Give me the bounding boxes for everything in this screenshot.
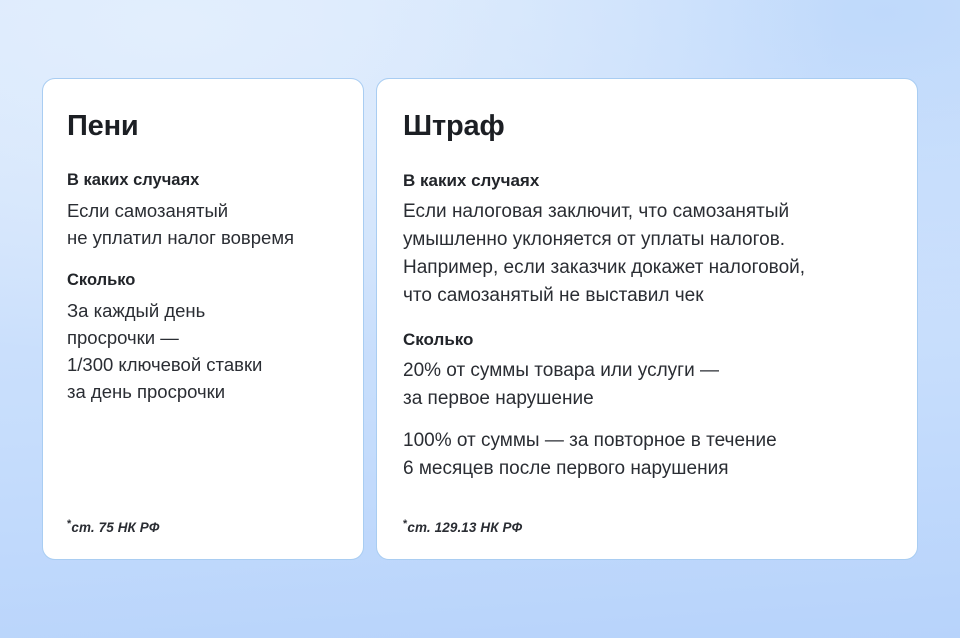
cards-container: Пени В каких случаях Если самозанятыйне … <box>42 78 918 560</box>
card-penalty-spacer <box>67 423 339 515</box>
infographic-canvas: Пени В каких случаях Если самозанятыйне … <box>0 0 960 638</box>
card-penalty-heading-cases: В каких случаях <box>67 169 339 191</box>
card-fine-heading-amount: Сколько <box>403 328 891 351</box>
card-fine-section-amount: Сколько 20% от суммы товара или услуги —… <box>403 328 891 483</box>
card-fine-title: Штраф <box>403 109 891 143</box>
card-fine-spacer <box>403 501 891 515</box>
card-penalty-title: Пени <box>67 109 339 143</box>
card-fine-text-amount-first: 20% от суммы товара или услуги —за перво… <box>403 357 891 413</box>
card-fine-footnote: *ст. 129.13 НК РФ <box>403 515 891 537</box>
card-fine-heading-cases: В каких случаях <box>403 169 891 192</box>
card-penalty-section-amount: Сколько За каждый деньпросрочки —1/300 к… <box>67 269 339 405</box>
card-fine: Штраф В каких случаях Если налоговая зак… <box>376 78 918 560</box>
card-fine-text-cases: Если налоговая заключит, что самозанятый… <box>403 198 891 310</box>
card-fine-section-cases: В каких случаях Если налоговая заключит,… <box>403 169 891 310</box>
card-penalty-footnote-text: ст. 75 НК РФ <box>71 520 159 535</box>
card-penalty-heading-amount: Сколько <box>67 269 339 291</box>
card-penalty-footnote: *ст. 75 НК РФ <box>67 515 339 537</box>
card-penalty: Пени В каких случаях Если самозанятыйне … <box>42 78 364 560</box>
card-fine-text-amount-repeat: 100% от суммы — за повторное в течение6 … <box>403 427 891 483</box>
card-penalty-section-cases: В каких случаях Если самозанятыйне уплат… <box>67 169 339 251</box>
card-penalty-text-amount: За каждый деньпросрочки —1/300 ключевой … <box>67 297 339 405</box>
card-fine-footnote-text: ст. 129.13 НК РФ <box>407 520 522 535</box>
card-penalty-text-cases: Если самозанятыйне уплатил налог вовремя <box>67 197 339 251</box>
